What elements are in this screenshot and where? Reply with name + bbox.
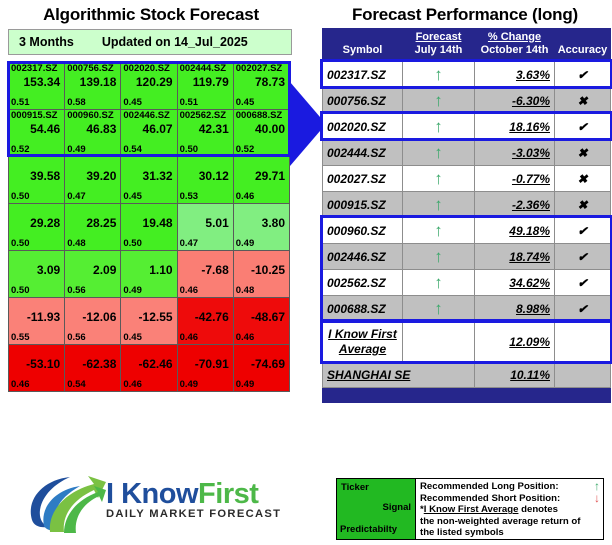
cell-signal: ↑ (403, 192, 475, 218)
down-arrow-icon: ↓ (594, 493, 600, 505)
heatmap-cell-value: 119.79 (178, 75, 233, 92)
up-arrow-icon: ↑ (434, 221, 443, 240)
cell-accuracy: ✔ (555, 218, 611, 244)
benchmark-change: 10.11% (475, 363, 555, 388)
cell-signal: ↑ (403, 296, 475, 322)
forecast-horizon: 3 Months (9, 35, 74, 49)
heatmap-cell-ticker (234, 251, 289, 263)
cell-signal: ↑ (403, 218, 475, 244)
performance-title: Forecast Performance (long) (318, 5, 612, 25)
legend-signal-label: Signal (382, 502, 411, 513)
legend-color-key: Ticker Signal Predictabilty (337, 479, 416, 539)
cell-change: -3.03% (475, 140, 555, 166)
heatmap-cell-predictability: 0.49 (178, 379, 199, 390)
cell-symbol: 000915.SZ (323, 192, 403, 218)
cell-change: -0.77% (475, 166, 555, 192)
cell-change: -2.36% (475, 192, 555, 218)
heatmap-row: 000915.SZ54.460.52000960.SZ46.830.490024… (9, 110, 290, 157)
heatmap-cell-ticker (234, 298, 289, 310)
heatmap-cell-value: 46.07 (121, 122, 176, 139)
heatmap-cell: 30.120.53 (177, 157, 233, 204)
table-row: 002444.SZ↑-3.03%✖ (323, 140, 611, 166)
heatmap-cell-ticker (9, 251, 64, 263)
cell-symbol: 002562.SZ (323, 270, 403, 296)
up-arrow-icon: ↑ (434, 169, 443, 188)
heatmap-cell-ticker (9, 204, 64, 216)
heatmap-cell-value: -62.46 (121, 357, 176, 374)
cell-symbol: 002446.SZ (323, 244, 403, 270)
heatmap-cell: -62.460.46 (121, 345, 177, 392)
table-row: 000960.SZ↑49.18%✔ (323, 218, 611, 244)
heatmap-cell-predictability: 0.46 (234, 191, 255, 202)
benchmark-row: SHANGHAI SE10.11% (323, 363, 611, 388)
cell-signal: ↑ (403, 270, 475, 296)
heatmap-cell-predictability: 0.50 (178, 144, 199, 155)
heatmap-cell-value: 28.25 (65, 216, 120, 233)
heatmap-cell-ticker: 002444.SZ (178, 63, 233, 75)
heatmap-cell-predictability: 0.51 (9, 97, 30, 108)
heatmap-cell-predictability: 0.58 (65, 97, 86, 108)
heatmap-cell-ticker: 002562.SZ (178, 110, 233, 122)
heatmap-row: 002317.SZ153.340.51000756.SZ139.180.5800… (9, 63, 290, 110)
heatmap-cell-predictability: 0.54 (121, 144, 142, 155)
heatmap-cell: 000915.SZ54.460.52 (9, 110, 65, 157)
cell-signal: ↑ (403, 140, 475, 166)
cell-accuracy: ✔ (555, 270, 611, 296)
heatmap-cell: -12.550.45 (121, 298, 177, 345)
heatmap-cell-predictability: 0.50 (9, 285, 30, 296)
average-change: 12.09% (475, 322, 555, 363)
heatmap-cell-ticker: 002317.SZ (9, 63, 64, 75)
cell-signal: ↑ (403, 62, 475, 88)
heatmap-cell-value: -7.68 (178, 263, 233, 280)
table-row: 002562.SZ↑34.62%✔ (323, 270, 611, 296)
heatmap-cell-ticker (234, 345, 289, 357)
heatmap-cell-value: 153.34 (9, 75, 64, 92)
heatmap-cell-ticker (234, 157, 289, 169)
heatmap-cell-predictability: 0.56 (65, 332, 86, 343)
heatmap-cell: 002020.SZ120.290.45 (121, 63, 177, 110)
heatmap-cell-value: 78.73 (234, 75, 289, 92)
heatmap-cell-ticker: 000915.SZ (9, 110, 64, 122)
table-row: 000756.SZ↑-6.30%✖ (323, 88, 611, 114)
heatmap-cell-ticker (65, 298, 120, 310)
heatmap-cell-value: 30.12 (178, 169, 233, 186)
cell-signal: ↑ (403, 244, 475, 270)
table-footer-bar (323, 388, 611, 403)
heatmap-cell-ticker (9, 345, 64, 357)
table-row: 002446.SZ↑18.74%✔ (323, 244, 611, 270)
cell-signal: ↑ (403, 114, 475, 140)
up-arrow-icon: ↑ (434, 117, 443, 136)
cell-symbol: 002020.SZ (323, 114, 403, 140)
heatmap-cell-value: -74.69 (234, 357, 289, 374)
cell-signal: ↑ (403, 166, 475, 192)
legend-notes: Recommended Long Position: ↑ Recommended… (416, 479, 603, 539)
col-header-accuracy: Accuracy (555, 29, 611, 62)
up-arrow-icon: ↑ (434, 65, 443, 84)
heatmap-cell: 002446.SZ46.070.54 (121, 110, 177, 157)
heatmap-cell: 000756.SZ139.180.58 (65, 63, 121, 110)
heatmap-cell: 29.710.46 (233, 157, 289, 204)
heatmap-cell-predictability: 0.52 (234, 144, 255, 155)
heatmap-cell: 28.250.48 (65, 204, 121, 251)
cell-change: 18.16% (475, 114, 555, 140)
logo-swoosh-icon (24, 474, 108, 536)
heatmap-cell-predictability: 0.46 (178, 285, 199, 296)
heatmap-cell-value: 19.48 (121, 216, 176, 233)
heatmap-row: 3.090.502.090.561.100.49-7.680.46-10.250… (9, 251, 290, 298)
up-arrow-icon: ↑ (434, 143, 443, 162)
heatmap-cell: -42.760.46 (177, 298, 233, 345)
table-row: 002027.SZ↑-0.77%✖ (323, 166, 611, 192)
heatmap-cell-predictability: 0.45 (121, 332, 142, 343)
average-row: I Know FirstAverage12.09% (323, 322, 611, 363)
heatmap-cell: 3.090.50 (9, 251, 65, 298)
heatmap-cell-ticker: 002027.SZ (234, 63, 289, 75)
heatmap-cell-predictability: 0.46 (121, 379, 142, 390)
heatmap-cell-value: -53.10 (9, 357, 64, 374)
up-arrow-icon: ↑ (434, 91, 443, 110)
cell-change: 8.98% (475, 296, 555, 322)
heatmap-cell-value: 3.09 (9, 263, 64, 280)
heatmap-cell-predictability: 0.49 (121, 285, 142, 296)
heatmap-cell-ticker (121, 298, 176, 310)
legend-box: Ticker Signal Predictabilty Recommended … (336, 478, 604, 540)
heatmap-cell: -12.060.56 (65, 298, 121, 345)
cell-accuracy: ✔ (555, 62, 611, 88)
performance-panel: Forecast Performance (long) Symbol Forec… (318, 0, 612, 545)
heatmap-cell-value: 54.46 (9, 122, 64, 139)
cell-change: 3.63% (475, 62, 555, 88)
heatmap-cell-ticker (65, 204, 120, 216)
heatmap-cell-ticker (65, 251, 120, 263)
heatmap-cell-ticker (65, 345, 120, 357)
heatmap-cell: -7.680.46 (177, 251, 233, 298)
heatmap-cell-predictability: 0.45 (121, 97, 142, 108)
heatmap-cell: -70.910.49 (177, 345, 233, 392)
heatmap-cell: 1.100.49 (121, 251, 177, 298)
table-header-row: Symbol Forecast July 14th % Change Octob… (323, 29, 611, 62)
table-row: 000915.SZ↑-2.36%✖ (323, 192, 611, 218)
table-row: 000688.SZ↑8.98%✔ (323, 296, 611, 322)
heatmap-cell-predictability: 0.56 (65, 285, 86, 296)
heatmap-cell: 3.800.49 (233, 204, 289, 251)
heatmap-cell-predictability: 0.52 (9, 144, 30, 155)
heatmap-cell-value: 29.71 (234, 169, 289, 186)
cell-symbol: 002027.SZ (323, 166, 403, 192)
cell-symbol: 002317.SZ (323, 62, 403, 88)
heatmap-cell-ticker: 000960.SZ (65, 110, 120, 122)
heatmap-cell-value: -62.38 (65, 357, 120, 374)
heatmap-cell-predictability: 0.46 (234, 332, 255, 343)
heatmap-cell-value: 120.29 (121, 75, 176, 92)
col-header-change: % Change October 14th (475, 29, 555, 62)
heatmap-cell-predictability: 0.46 (9, 379, 30, 390)
heatmap-cell: 002444.SZ119.790.51 (177, 63, 233, 110)
heatmap-cell: -53.100.46 (9, 345, 65, 392)
heatmap-cell-predictability: 0.51 (178, 97, 199, 108)
forecast-heatmap: 002317.SZ153.340.51000756.SZ139.180.5800… (8, 62, 290, 392)
table-row: 002020.SZ↑18.16%✔ (323, 114, 611, 140)
heatmap-cell-ticker (121, 157, 176, 169)
cell-signal: ↑ (403, 88, 475, 114)
heatmap-cell-ticker (121, 345, 176, 357)
cell-accuracy: ✖ (555, 192, 611, 218)
heatmap-row: 29.280.5028.250.4819.480.505.010.473.800… (9, 204, 290, 251)
heatmap-cell-value: 5.01 (178, 216, 233, 233)
cell-symbol: 000688.SZ (323, 296, 403, 322)
heatmap-cell-value: -12.06 (65, 310, 120, 327)
heatmap-cell-value: 2.09 (65, 263, 120, 280)
heatmap-cell-value: 139.18 (65, 75, 120, 92)
heatmap-cell: 5.010.47 (177, 204, 233, 251)
heatmap-cell-ticker: 000756.SZ (65, 63, 120, 75)
heatmap-cell: -62.380.54 (65, 345, 121, 392)
heatmap-cell-value: -42.76 (178, 310, 233, 327)
legend-ticker-label: Ticker (341, 482, 369, 493)
heatmap-cell-value: 42.31 (178, 122, 233, 139)
heatmap-cell: 002562.SZ42.310.50 (177, 110, 233, 157)
heatmap-cell-predictability: 0.50 (9, 238, 30, 249)
col-header-symbol: Symbol (323, 29, 403, 62)
logo-tagline: DAILY MARKET FORECAST (106, 508, 281, 520)
heatmap-cell-predictability: 0.49 (234, 238, 255, 249)
heatmap-cell-predictability: 0.55 (9, 332, 30, 343)
heatmap-cell-value: -10.25 (234, 263, 289, 280)
logo-wordmark: I KnowFirst DAILY MARKET FORECAST (106, 478, 281, 520)
average-label: I Know FirstAverage (323, 322, 403, 363)
heatmap-row: -53.100.46-62.380.54-62.460.46-70.910.49… (9, 345, 290, 392)
legend-predictability-label: Predictabilty (340, 524, 397, 535)
heatmap-cell-value: 31.32 (121, 169, 176, 186)
heatmap-cell-ticker (178, 251, 233, 263)
heatmap-cell: 19.480.50 (121, 204, 177, 251)
heatmap-cell: -48.670.46 (233, 298, 289, 345)
heatmap-cell: 002027.SZ78.730.45 (233, 63, 289, 110)
cell-change: 34.62% (475, 270, 555, 296)
forecast-updated-date: Updated on 14_Jul_2025 (74, 35, 248, 49)
heatmap-cell-value: -12.55 (121, 310, 176, 327)
heatmap-cell-predictability: 0.50 (121, 238, 142, 249)
benchmark-blank-cell (555, 363, 611, 388)
heatmap-cell: -74.690.49 (233, 345, 289, 392)
heatmap-cell: 000960.SZ46.830.49 (65, 110, 121, 157)
cell-change: 18.74% (475, 244, 555, 270)
legend-footnote-line3: the listed symbols (420, 527, 600, 539)
cell-accuracy: ✔ (555, 114, 611, 140)
heatmap-cell: 2.090.56 (65, 251, 121, 298)
heatmap-cell-predictability: 0.47 (178, 238, 199, 249)
heatmap-cell-ticker (178, 157, 233, 169)
cell-accuracy: ✔ (555, 244, 611, 270)
cell-accuracy: ✖ (555, 140, 611, 166)
up-arrow-icon: ↑ (434, 195, 443, 214)
heatmap-cell: 39.200.47 (65, 157, 121, 204)
heatmap-cell: 002317.SZ153.340.51 (9, 63, 65, 110)
heatmap-cell-predictability: 0.53 (178, 191, 199, 202)
legend-long-label: Recommended Long Position: (420, 481, 559, 493)
heatmap-cell-predictability: 0.47 (65, 191, 86, 202)
legend-short-label: Recommended Short Position: (420, 493, 560, 505)
up-arrow-icon: ↑ (434, 299, 443, 318)
heatmap-cell-ticker: 000688.SZ (234, 110, 289, 122)
heatmap-cell-ticker (9, 157, 64, 169)
brand-logo: I KnowFirst DAILY MARKET FORECAST (24, 474, 296, 540)
average-accuracy-cell (555, 322, 611, 363)
cell-accuracy: ✖ (555, 88, 611, 114)
cell-symbol: 000756.SZ (323, 88, 403, 114)
heatmap-cell-predictability: 0.49 (65, 144, 86, 155)
heatmap-cell-ticker (121, 204, 176, 216)
cell-change: -6.30% (475, 88, 555, 114)
heatmap-cell-predictability: 0.49 (234, 379, 255, 390)
heatmap-cell-predictability: 0.54 (65, 379, 86, 390)
heatmap-cell-value: -48.67 (234, 310, 289, 327)
performance-table: Symbol Forecast July 14th % Change Octob… (322, 28, 611, 403)
heatmap-cell-value: 46.83 (65, 122, 120, 139)
heatmap-row: 39.580.5039.200.4731.320.4530.120.5329.7… (9, 157, 290, 204)
heatmap-cell: -11.930.55 (9, 298, 65, 345)
heatmap-cell-ticker (121, 251, 176, 263)
heatmap-cell-value: 40.00 (234, 122, 289, 139)
heatmap-cell-value: 29.28 (9, 216, 64, 233)
cell-accuracy: ✖ (555, 166, 611, 192)
up-arrow-icon: ↑ (434, 273, 443, 292)
heatmap-cell: 31.320.45 (121, 157, 177, 204)
legend-short-row: Recommended Short Position: ↓ (420, 493, 600, 505)
table-row: 002317.SZ↑3.63%✔ (323, 62, 611, 88)
cell-symbol: 000960.SZ (323, 218, 403, 244)
heatmap-cell-predictability: 0.45 (121, 191, 142, 202)
page-title: Algorithmic Stock Forecast (6, 5, 296, 25)
heatmap-cell-value: -11.93 (9, 310, 64, 327)
logo-title: I KnowFirst (106, 478, 281, 510)
heatmap-cell: 39.580.50 (9, 157, 65, 204)
heatmap-cell-ticker (178, 298, 233, 310)
cell-symbol: 002444.SZ (323, 140, 403, 166)
legend-footnote: *I Know First Average denotes (420, 504, 600, 516)
legend-long-row: Recommended Long Position: ↑ (420, 481, 600, 493)
forecast-header-band: 3 Months Updated on 14_Jul_2025 (8, 29, 292, 55)
col-header-forecast: Forecast July 14th (403, 29, 475, 62)
heatmap-cell-value: 39.20 (65, 169, 120, 186)
up-arrow-icon: ↑ (434, 247, 443, 266)
heatmap-cell-ticker (234, 204, 289, 216)
cell-accuracy: ✔ (555, 296, 611, 322)
heatmap-cell-ticker (178, 345, 233, 357)
heatmap-row: -11.930.55-12.060.56-12.550.45-42.760.46… (9, 298, 290, 345)
average-signal-cell (403, 322, 475, 363)
heatmap-cell-value: 39.58 (9, 169, 64, 186)
heatmap-cell-ticker (65, 157, 120, 169)
heatmap-cell-predictability: 0.45 (234, 97, 255, 108)
heatmap-cell: 000688.SZ40.000.52 (233, 110, 289, 157)
heatmap-cell-ticker (9, 298, 64, 310)
heatmap-cell-ticker (178, 204, 233, 216)
heatmap-cell-value: 1.10 (121, 263, 176, 280)
benchmark-label: SHANGHAI SE (323, 363, 475, 388)
heatmap-cell-ticker: 002446.SZ (121, 110, 176, 122)
heatmap-cell: -10.250.48 (233, 251, 289, 298)
cell-change: 49.18% (475, 218, 555, 244)
heatmap-cell-predictability: 0.48 (234, 285, 255, 296)
heatmap-cell: 29.280.50 (9, 204, 65, 251)
heatmap-cell-predictability: 0.50 (9, 191, 30, 202)
heatmap-cell-value: -70.91 (178, 357, 233, 374)
heatmap-cell-value: 3.80 (234, 216, 289, 233)
forecast-panel: Algorithmic Stock Forecast 3 Months Upda… (0, 0, 300, 545)
heatmap-cell-ticker: 002020.SZ (121, 63, 176, 75)
heatmap-cell-predictability: 0.48 (65, 238, 86, 249)
heatmap-cell-predictability: 0.46 (178, 332, 199, 343)
legend-footnote-line2: the non-weighted average return of (420, 516, 600, 528)
